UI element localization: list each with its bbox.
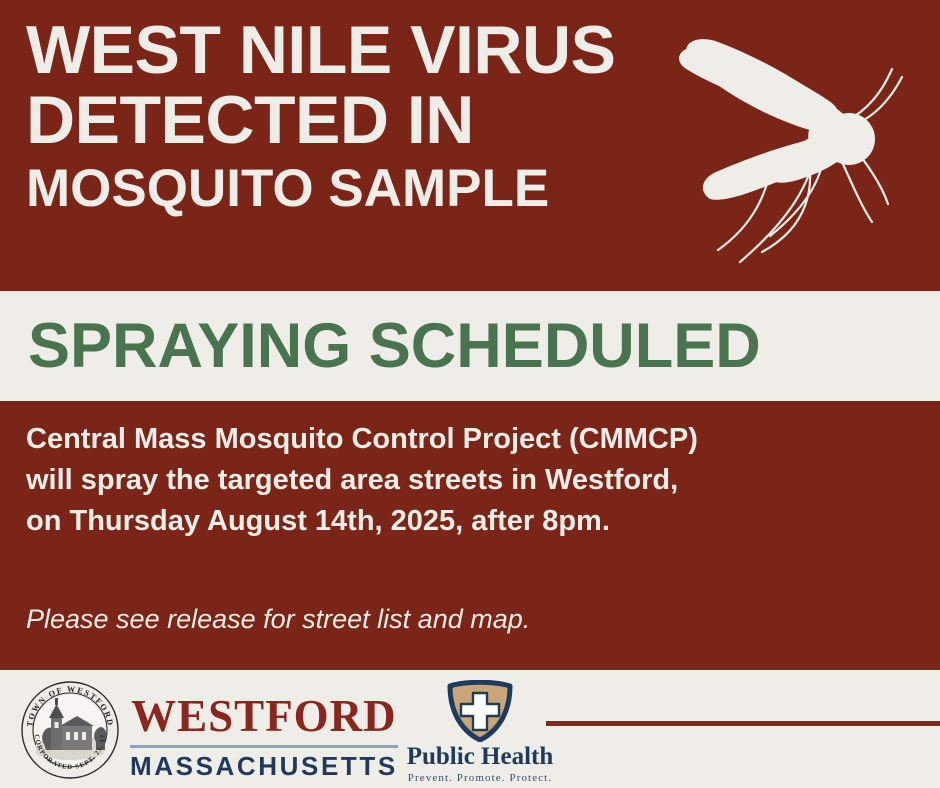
footer-divider-rule xyxy=(546,721,940,726)
westford-wordmark: WESTFORD MASSACHUSETTS xyxy=(130,694,398,779)
wordmark-massachusetts: MASSACHUSETTS xyxy=(130,753,398,779)
poster-canvas: WEST NILE VIRUS DETECTED IN MOSQUITO SAM… xyxy=(0,0,940,788)
spraying-banner: SPRAYING SCHEDULED xyxy=(0,291,940,401)
body-line-2: will spray the targeted area streets in … xyxy=(26,460,916,501)
mosquito-icon xyxy=(620,14,940,286)
banner-text: SPRAYING SCHEDULED xyxy=(0,315,761,378)
body-line-3: on Thursday August 14th, 2025, after 8pm… xyxy=(26,501,916,542)
release-note: Please see release for street list and m… xyxy=(26,604,530,635)
wordmark-divider xyxy=(130,745,398,748)
body-line-1: Central Mass Mosquito Control Project (C… xyxy=(26,419,916,460)
town-seal-icon: TOWN OF WESTFORD INCORPORATED SEPT. 23, … xyxy=(18,678,122,782)
wordmark-westford: WESTFORD xyxy=(130,694,398,739)
headline-block: WEST NILE VIRUS DETECTED IN MOSQUITO SAM… xyxy=(26,18,646,214)
body-copy: Central Mass Mosquito Control Project (C… xyxy=(26,419,916,543)
headline-line-3: MOSQUITO SAMPLE xyxy=(26,163,646,214)
public-health-logo: Public Health Prevent. Promote. Protect. xyxy=(405,680,555,784)
headline-line-1: WEST NILE VIRUS xyxy=(26,18,646,84)
public-health-title: Public Health xyxy=(405,744,555,770)
headline-line-2: DETECTED IN xyxy=(26,88,646,154)
shield-cross-icon xyxy=(405,680,555,742)
public-health-tagline: Prevent. Promote. Protect. xyxy=(405,772,555,784)
